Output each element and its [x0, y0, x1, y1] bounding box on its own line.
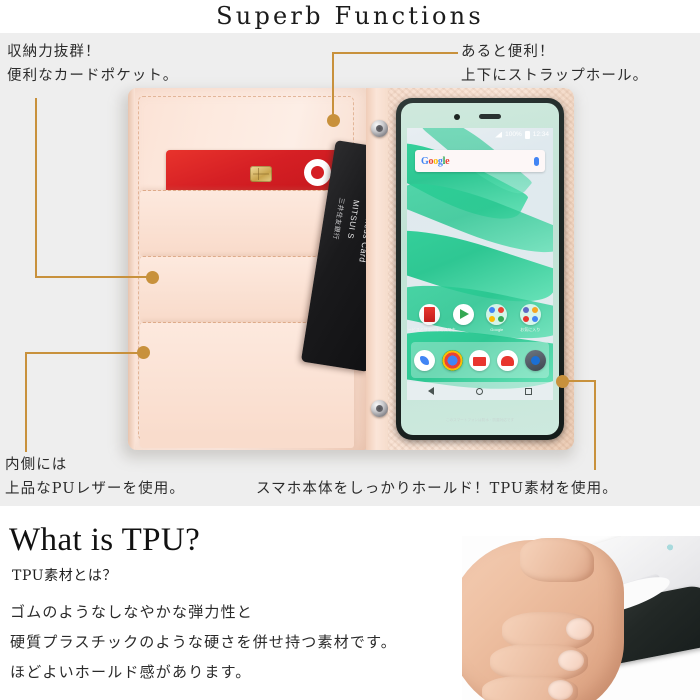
card-chip-icon	[250, 166, 272, 182]
flap-edge	[128, 88, 135, 450]
callout-line: 内側には	[5, 453, 185, 477]
signal-icon	[495, 132, 502, 138]
leader-line-tpu-vertical	[594, 380, 596, 470]
earpiece-icon	[479, 114, 501, 119]
smartphone: 100% 12:34 ​Google サービスとサポートのスマホ	[396, 98, 564, 440]
leader-line-strap-vertical	[332, 52, 334, 120]
app-row: サービスとサポートのスマホ Google	[413, 304, 547, 325]
callout-line: あると便利！	[461, 40, 648, 64]
callout-strap-hole: あると便利！ 上下にストラップホール。	[461, 40, 648, 88]
home-icon[interactable]	[476, 388, 483, 395]
leader-dot-strap	[327, 114, 340, 127]
google-logo-icon: ​Google	[421, 156, 449, 167]
infographic-root: Superb Functions	[0, 0, 700, 700]
callout-line: 便利なカードポケット。	[7, 64, 178, 88]
leader-dot-leather	[137, 346, 150, 359]
app-folder-google[interactable]: Google	[486, 304, 507, 325]
tpu-explainer-section: What is TPU? TPU素材とは？ ゴムのようなしなやかな弾力性と 硬質…	[0, 506, 700, 700]
app-icon-chrome[interactable]	[442, 350, 463, 371]
callout-line: 収納力抜群！	[7, 40, 178, 64]
callout-card-pocket: 収納力抜群！ 便利なカードポケット。	[7, 40, 178, 88]
navigation-bar	[407, 382, 553, 400]
callout-line: スマホ本体をしっかりホールド！TPU素材を使用。	[256, 477, 618, 501]
leader-line-tpu-horizontal	[568, 380, 596, 382]
photo-thumb	[520, 538, 594, 582]
leader-line-pocket-vertical	[35, 98, 37, 278]
tpu-body-line: ゴムのようなしなやかな弾力性と	[10, 597, 397, 627]
front-camera-icon	[454, 114, 460, 120]
leader-line-strap-horizontal	[332, 52, 458, 54]
phone-bezel: 100% 12:34 ​Google サービスとサポートのスマホ	[401, 103, 559, 435]
tpu-body-line: 硬質プラスチックのような硬さを併せ持つ素材です。	[10, 627, 397, 657]
photo-fingernail	[566, 618, 592, 640]
tpu-heading: What is TPU?	[9, 522, 200, 559]
google-search-bar[interactable]: ​Google	[415, 150, 545, 172]
recents-icon[interactable]	[525, 388, 532, 395]
tpu-flex-photo	[462, 536, 700, 700]
app-icon-camera[interactable]	[525, 350, 546, 371]
leader-dot-pocket	[146, 271, 159, 284]
battery-icon	[525, 131, 530, 139]
microphone-icon[interactable]	[534, 157, 539, 166]
callout-tpu-hold: スマホ本体をしっかりホールド！TPU素材を使用。	[256, 477, 618, 501]
chin-text: このスマートフォンは防水・防塵対応です	[446, 418, 514, 423]
page-title: Superb Functions	[0, 2, 700, 30]
status-bar: 100% 12:34	[407, 128, 553, 141]
photo-fingernail	[558, 650, 584, 671]
app-label: Google	[490, 327, 503, 332]
leader-line-leather-horizontal	[25, 352, 145, 354]
app-icon-service[interactable]: サービスとサポートのスマホ	[419, 304, 440, 325]
app-icon-mail[interactable]	[469, 350, 490, 371]
leader-line-pocket-horizontal	[35, 276, 155, 278]
tpu-subheading: TPU素材とは？	[12, 565, 117, 585]
dock	[411, 342, 549, 378]
callout-pu-leather: 内側には 上品なPUレザーを使用。	[5, 453, 185, 501]
phone-chin: このスマートフォンは防水・防塵対応です	[401, 399, 559, 435]
callout-line: 上品なPUレザーを使用。	[5, 477, 185, 501]
app-folder-favorites[interactable]: お気に入り	[520, 304, 541, 325]
battery-percent: 100%	[505, 131, 522, 138]
phone-screen: 100% 12:34 ​Google サービスとサポートのスマホ	[407, 128, 553, 400]
tpu-body-line: ほどよいホールド感があります。	[10, 657, 397, 687]
strap-hole-grommet-top	[371, 120, 388, 137]
business-card-brand: MITSUI S	[346, 199, 361, 239]
tpu-body: ゴムのようなしなやかな弾力性と 硬質プラスチックのような硬さを併せ持つ素材です。…	[10, 597, 397, 687]
app-icon-play-store[interactable]	[453, 304, 474, 325]
app-label: お気に入り	[520, 327, 540, 333]
callout-line: 上下にストラップホール。	[461, 64, 648, 88]
leader-line-leather-vertical	[25, 352, 27, 452]
clock: 12:34	[533, 131, 549, 138]
app-icon-shop[interactable]	[497, 350, 518, 371]
features-section: Superb Functions	[0, 0, 700, 506]
app-icon-phone[interactable]	[414, 350, 435, 371]
photo-fingernail	[548, 680, 573, 700]
card-logo-icon	[304, 159, 331, 186]
back-icon[interactable]	[428, 387, 434, 395]
strap-hole-grommet-bottom	[371, 400, 388, 417]
app-label: サービスとサポートのスマホ	[407, 327, 456, 333]
